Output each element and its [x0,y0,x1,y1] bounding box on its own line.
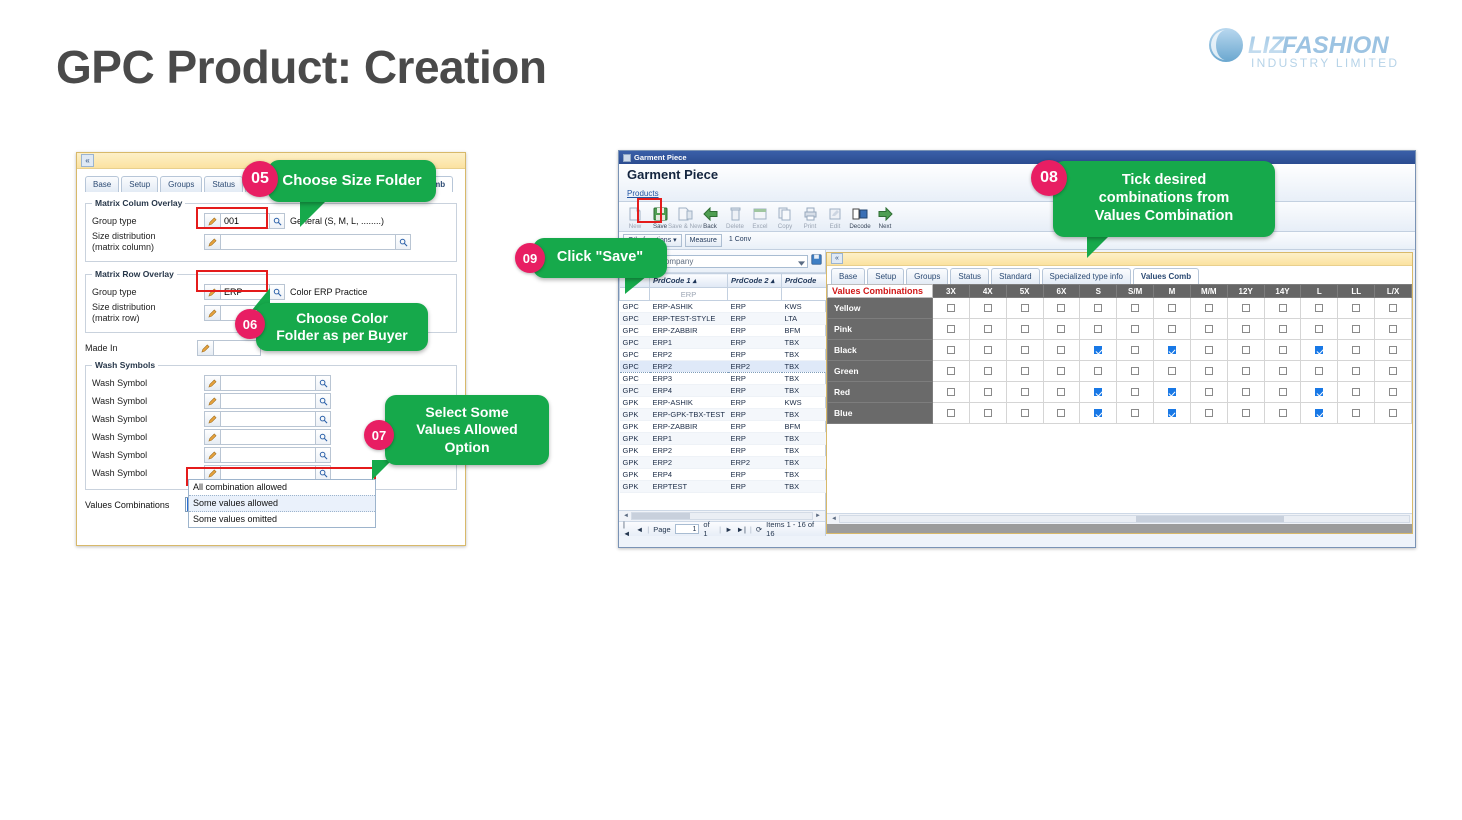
tab-specialized-type-info[interactable]: Specialized type info [1042,268,1131,284]
column-group-type-label: Group type [92,216,204,227]
grid-cell-yellow-s-m[interactable] [1117,298,1154,319]
tab-values-comb[interactable]: Values Comb [1133,268,1199,284]
grid-cell-yellow-3x[interactable] [933,298,970,319]
conv-button[interactable]: 1 Conv [725,234,755,247]
checkbox[interactable] [1315,304,1323,312]
grid-cell-red-5x[interactable] [1006,382,1043,403]
wash-symbol-input-wrap[interactable] [204,429,331,445]
callout-09-tail [625,276,647,294]
grid-cell-yellow-14y[interactable] [1264,298,1301,319]
grid-col-mm[interactable]: M/M [1190,285,1227,298]
checkbox[interactable] [1131,346,1139,354]
checkbox[interactable] [1094,304,1102,312]
grid-col-sm[interactable]: S/M [1117,285,1154,298]
column-size-distribution-input-wrap[interactable] [204,234,411,250]
column-size-distribution-value[interactable] [220,234,396,250]
grid-col-5x[interactable]: 5X [1006,285,1043,298]
grid-cell-pink-s-m[interactable] [1117,319,1154,340]
checkbox[interactable] [1168,367,1176,375]
grid-cell-green-3x[interactable] [933,361,970,382]
product-list-horizontal-scrollbar[interactable]: ◄ ► [619,510,825,521]
callout-05: Choose Size Folder [268,160,436,202]
checkbox[interactable] [984,304,992,312]
grid-cell-blue-s[interactable] [1080,403,1117,424]
checkbox[interactable] [1094,388,1102,396]
cell-prdcode3: TBX [782,457,827,469]
pencil-icon[interactable] [204,234,220,250]
grid-cell-black-m[interactable] [1154,340,1191,361]
cell-prdcode1: ERP-ZABBIR [650,421,728,433]
grid-cell-red-s-m[interactable] [1117,382,1154,403]
table-row-selected[interactable]: GPCERP2ERP2TBX [620,361,827,373]
callout-07-text: Select Some Values Allowed Option [404,398,529,461]
checkbox[interactable] [1352,304,1360,312]
dropdown-option-some-values-omitted[interactable]: Some values omitted [189,512,375,527]
grid-cell-red-6x[interactable] [1043,382,1080,403]
grid-col-3x[interactable]: 3X [933,285,970,298]
back-arrow-icon [703,206,718,222]
checkbox[interactable] [1389,346,1397,354]
toolbar-button-back[interactable]: Back [698,205,722,230]
checkbox[interactable] [1352,325,1360,333]
grid-col-14y[interactable]: 14Y [1264,285,1301,298]
search-icon[interactable] [316,447,331,463]
first-page-icon[interactable]: |◄ [623,520,632,538]
checkbox[interactable] [1352,409,1360,417]
grid-cell-yellow-m[interactable] [1154,298,1191,319]
pencil-icon[interactable] [204,429,220,445]
checkbox[interactable] [1205,409,1213,417]
checkbox[interactable] [1131,409,1139,417]
checkbox[interactable] [984,409,992,417]
toolbar-button-next[interactable]: Next [873,205,897,230]
grid-cell-blue-3x[interactable] [933,403,970,424]
cell-type: GPC [620,361,650,373]
checkbox[interactable] [947,304,955,312]
grid-cell-blue-l[interactable] [1301,403,1338,424]
checkbox[interactable] [984,388,992,396]
table-row[interactable]: GPKERP-ASHIKERPKWS [620,397,827,409]
measure-button[interactable]: Measure [685,234,722,247]
wash-symbol-value[interactable] [220,447,316,463]
grid-cell-pink-6x[interactable] [1043,319,1080,340]
table-row[interactable]: GPCERP1ERPTBX [620,337,827,349]
checkbox[interactable] [1094,346,1102,354]
grid-cell-green-14y[interactable] [1264,361,1301,382]
checkbox[interactable] [1021,388,1029,396]
checkbox[interactable] [1205,367,1213,375]
checkbox[interactable] [947,346,955,354]
grid-footer-band [827,524,1412,533]
grid-cell-green-s[interactable] [1080,361,1117,382]
grid-cell-green-5x[interactable] [1006,361,1043,382]
grid-body: YellowPinkBlackGreenRedBlue [828,298,1412,424]
table-row[interactable]: GPKERP2ERPTBX [620,445,827,457]
grid-horizontal-scrollbar[interactable]: ◄ [827,513,1412,524]
grid-cell-red-l-x[interactable] [1375,382,1412,403]
toolbar-button-decode[interactable]: Decode [848,205,872,230]
grid-cell-red-m[interactable] [1154,382,1191,403]
last-page-icon[interactable]: ►| [737,525,746,534]
grid-cell-green-4x[interactable] [969,361,1006,382]
grid-cell-blue-ll[interactable] [1338,403,1375,424]
callout-08-badge: 08 [1031,160,1067,196]
column-size-distribution-sublabel: (matrix column) [92,242,204,253]
checkbox[interactable] [984,325,992,333]
chevron-down-icon[interactable] [798,259,805,268]
pencil-icon[interactable] [204,305,220,321]
table-row[interactable]: GPCERP3ERPTBX [620,373,827,385]
checkbox[interactable] [1168,304,1176,312]
grid-cell-green-l[interactable] [1301,361,1338,382]
grid-cell-blue-14y[interactable] [1264,403,1301,424]
row-size-distribution-label: Size distribution (matrix row) [92,302,204,324]
toolbar-button-copy[interactable]: Copy [773,205,797,230]
grid-col-s[interactable]: S [1080,285,1117,298]
checkbox[interactable] [1279,409,1287,417]
tab-standard[interactable]: Standard [991,268,1039,284]
search-icon[interactable] [316,411,331,427]
grid-cell-blue-4x[interactable] [969,403,1006,424]
checkbox[interactable] [1205,346,1213,354]
grid-col-6x[interactable]: 6X [1043,285,1080,298]
checkbox[interactable] [984,367,992,375]
grid-col-l[interactable]: L [1301,285,1338,298]
grid-cell-black-12y[interactable] [1227,340,1264,361]
grid-cell-black-4x[interactable] [969,340,1006,361]
grid-cell-pink-4x[interactable] [969,319,1006,340]
checkbox[interactable] [1279,346,1287,354]
checkbox[interactable] [947,409,955,417]
scroll-right-icon[interactable]: ► [813,513,823,519]
grid-cell-yellow-l-x[interactable] [1375,298,1412,319]
page-number-input[interactable]: 1 [675,524,700,534]
refresh-icon[interactable]: ⟳ [756,525,762,534]
table-row[interactable]: GPCERP4ERPTBX [620,385,827,397]
wash-symbol-input-wrap[interactable] [204,447,331,463]
checkbox[interactable] [1021,304,1029,312]
checkbox[interactable] [1315,346,1323,354]
checkbox[interactable] [1242,304,1250,312]
grid-col-4x[interactable]: 4X [969,285,1006,298]
checkbox[interactable] [1094,325,1102,333]
collapse-icon[interactable]: « [831,253,843,264]
values-combinations-dropdown[interactable]: All combination allowed Some values allo… [188,479,376,528]
grid-cell-black-5x[interactable] [1006,340,1043,361]
checkbox[interactable] [1315,409,1323,417]
tab-status[interactable]: Status [204,176,243,192]
cell-prdcode2: ERP [728,433,782,445]
pencil-icon[interactable] [204,213,220,229]
grid-row-header-pink: Pink [828,319,933,340]
grid-cell-pink-l[interactable] [1301,319,1338,340]
tab-groups[interactable]: Groups [160,176,202,192]
checkbox[interactable] [1279,304,1287,312]
pencil-icon[interactable] [204,447,220,463]
breadcrumb[interactable]: Products [627,189,659,198]
excel-icon [753,206,767,222]
scroll-thumb[interactable] [632,513,690,519]
grid-cell-pink-3x[interactable] [933,319,970,340]
search-icon[interactable] [316,375,331,391]
prev-page-icon[interactable]: ◄ [636,525,643,534]
checkbox[interactable] [1057,409,1065,417]
filter-cell-prdcode1[interactable]: ERP [650,288,728,301]
grid-cell-pink-m-m[interactable] [1190,319,1227,340]
grid-cell-black-14y[interactable] [1264,340,1301,361]
grid-cell-black-6x[interactable] [1043,340,1080,361]
checkbox[interactable] [947,367,955,375]
grid-cell-blue-6x[interactable] [1043,403,1080,424]
grid-cell-red-s[interactable] [1080,382,1117,403]
checkbox[interactable] [1242,367,1250,375]
checkbox[interactable] [1352,367,1360,375]
grid-cell-pink-l-x[interactable] [1375,319,1412,340]
grid-col-ll[interactable]: LL [1338,285,1375,298]
collapse-icon[interactable]: « [81,154,94,167]
row-group-type-input-wrap[interactable]: ERP [204,284,285,300]
checkbox[interactable] [1389,304,1397,312]
grid-cell-yellow-4x[interactable] [969,298,1006,319]
grid-cell-black-3x[interactable] [933,340,970,361]
scroll-left-icon[interactable]: ◄ [829,516,839,522]
grid-cell-yellow-ll[interactable] [1338,298,1375,319]
search-icon[interactable] [396,234,411,250]
checkbox[interactable] [1131,367,1139,375]
checkbox[interactable] [1021,367,1029,375]
cell-prdcode1: ERP-ZABBIR [650,325,728,337]
checkbox[interactable] [1131,388,1139,396]
grid-cell-green-m[interactable] [1154,361,1191,382]
checkbox[interactable] [1389,409,1397,417]
cell-prdcode2: ERP2 [728,361,782,373]
checkbox[interactable] [1131,325,1139,333]
grid-cell-black-l-x[interactable] [1375,340,1412,361]
checkbox[interactable] [1094,409,1102,417]
grid-cell-green-l-x[interactable] [1375,361,1412,382]
checkbox[interactable] [947,388,955,396]
checkbox[interactable] [1242,325,1250,333]
checkbox[interactable] [1205,304,1213,312]
grid-cell-green-m-m[interactable] [1190,361,1227,382]
grid-cell-blue-12y[interactable] [1227,403,1264,424]
checkbox[interactable] [1315,388,1323,396]
checkbox[interactable] [1389,325,1397,333]
grid-cell-red-l[interactable] [1301,382,1338,403]
checkbox[interactable] [1279,388,1287,396]
search-icon[interactable] [270,213,285,229]
new-doc-icon [628,206,642,222]
grid-cell-yellow-6x[interactable] [1043,298,1080,319]
grid-cell-red-14y[interactable] [1264,382,1301,403]
checkbox[interactable] [1168,409,1176,417]
grid-cell-yellow-12y[interactable] [1227,298,1264,319]
grid-cell-blue-l-x[interactable] [1375,403,1412,424]
grid-col-m[interactable]: M [1154,285,1191,298]
table-row[interactable]: GPCERP-ASHIKERPKWS [620,301,827,313]
toolbar-button-save-and-new[interactable]: Save & New [673,205,697,230]
checkbox[interactable] [1315,367,1323,375]
grid-cell-green-12y[interactable] [1227,361,1264,382]
grid-cell-blue-s-m[interactable] [1117,403,1154,424]
callout-09: Click "Save" [533,238,667,278]
checkbox[interactable] [1057,325,1065,333]
checkbox[interactable] [1057,346,1065,354]
table-row[interactable]: GPKERP1ERPTBX [620,433,827,445]
checkbox[interactable] [1352,346,1360,354]
scroll-track[interactable] [839,515,1410,523]
table-row[interactable]: GPCERP-ZABBIRERPBFM [620,325,827,337]
search-icon[interactable] [316,429,331,445]
pencil-icon[interactable] [204,411,220,427]
tab-status[interactable]: Status [950,268,989,284]
checkbox[interactable] [1021,409,1029,417]
grid-cell-pink-14y[interactable] [1264,319,1301,340]
grid-cell-red-ll[interactable] [1338,382,1375,403]
search-icon[interactable] [270,284,285,300]
wash-symbol-input-wrap[interactable] [204,375,331,391]
checkbox[interactable] [1352,388,1360,396]
grid-cell-pink-5x[interactable] [1006,319,1043,340]
checkbox[interactable] [1168,346,1176,354]
wash-symbol-input-wrap[interactable] [204,393,331,409]
column-group-type-input-wrap[interactable]: 001 [204,213,285,229]
table-row[interactable]: GPCERP-TEST-STYLEERPLTA [620,313,827,325]
grid-cell-black-l[interactable] [1301,340,1338,361]
table-row[interactable]: GPCERP2ERPTBX [620,349,827,361]
grid-cell-blue-m[interactable] [1154,403,1191,424]
tab-base[interactable]: Base [831,268,865,284]
tab-setup[interactable]: Setup [121,176,158,192]
checkbox[interactable] [984,346,992,354]
tab-base[interactable]: Base [85,176,119,192]
next-page-icon[interactable]: ► [725,525,732,534]
pencil-icon[interactable] [204,284,220,300]
grid-cell-red-m-m[interactable] [1190,382,1227,403]
grid-cell-black-ll[interactable] [1338,340,1375,361]
save-view-icon[interactable] [811,252,822,270]
table-row[interactable]: GPKERP2ERP2TBX [620,457,827,469]
scroll-thumb[interactable] [1136,516,1284,522]
col-header-prdcode2[interactable]: PrdCode 2 ▴ [728,274,782,288]
made-in-input-wrap[interactable] [197,340,261,356]
column-group-type-value[interactable]: 001 [220,213,270,229]
grid-cell-pink-ll[interactable] [1338,319,1375,340]
made-in-value[interactable] [213,340,261,356]
wash-symbol-label: Wash Symbol [92,414,204,425]
grid-cell-green-ll[interactable] [1338,361,1375,382]
scroll-track[interactable] [631,512,813,520]
grid-cell-yellow-5x[interactable] [1006,298,1043,319]
checkbox[interactable] [1242,388,1250,396]
grid-cell-blue-m-m[interactable] [1190,403,1227,424]
tab-groups[interactable]: Groups [906,268,948,284]
checkbox[interactable] [1279,367,1287,375]
grid-cell-black-s[interactable] [1080,340,1117,361]
checkbox[interactable] [1057,388,1065,396]
checkbox[interactable] [1168,388,1176,396]
dropdown-option-some-values-allowed[interactable]: Some values allowed [189,495,375,512]
table-row[interactable]: GPKERPTESTERPTBX [620,481,827,493]
toolbar-button-new[interactable]: New [623,205,647,230]
checkbox[interactable] [1242,346,1250,354]
checkbox[interactable] [1315,325,1323,333]
callout-08: Tick desired combinations from Values Co… [1053,161,1275,237]
checkbox[interactable] [1279,325,1287,333]
cell-type: GPC [620,337,650,349]
toolbar-button-delete[interactable]: Delete [723,205,747,230]
checkbox[interactable] [1021,346,1029,354]
pencil-icon[interactable] [204,393,220,409]
checkbox[interactable] [1094,367,1102,375]
col-header-prdcode3[interactable]: PrdCode [782,274,827,288]
dropdown-option-all-combination-allowed[interactable]: All combination allowed [189,480,375,495]
grid-cell-red-4x[interactable] [969,382,1006,403]
grid-cell-yellow-m-m[interactable] [1190,298,1227,319]
scroll-left-icon[interactable]: ◄ [621,513,631,519]
table-filter-row: ERP [620,288,827,301]
view-select[interactable]: My Company [642,255,808,268]
toolbar-button-print[interactable]: Print [798,205,822,230]
checkbox[interactable] [1057,367,1065,375]
pagination-bar: |◄ ◄ | Page 1 of 1 | ► ►| | ⟳ Items 1 - … [619,521,825,536]
grid-cell-pink-s[interactable] [1080,319,1117,340]
cell-type: GPK [620,421,650,433]
filter-cell-prdcode3[interactable] [782,288,827,301]
checkbox[interactable] [1131,304,1139,312]
wash-symbol-value[interactable] [220,429,316,445]
checkbox[interactable] [1389,388,1397,396]
grid-col-12y[interactable]: 12Y [1227,285,1264,298]
row-group-type-label: Group type [92,287,204,298]
tab-setup[interactable]: Setup [867,268,904,284]
grid-cell-pink-m[interactable] [1154,319,1191,340]
grid-cell-pink-12y[interactable] [1227,319,1264,340]
checkbox[interactable] [1021,325,1029,333]
grid-cell-black-s-m[interactable] [1117,340,1154,361]
checkbox[interactable] [947,325,955,333]
toolbar-button-edit[interactable]: Edit [823,205,847,230]
pencil-icon[interactable] [204,375,220,391]
grid-cell-red-12y[interactable] [1227,382,1264,403]
grid-cell-green-s-m[interactable] [1117,361,1154,382]
grid-cell-yellow-l[interactable] [1301,298,1338,319]
grid-cell-blue-5x[interactable] [1006,403,1043,424]
grid-cell-green-6x[interactable] [1043,361,1080,382]
checkbox[interactable] [1057,304,1065,312]
pencil-icon[interactable] [197,340,213,356]
filter-cell-prdcode2[interactable] [728,288,782,301]
wash-symbol-value[interactable] [220,393,316,409]
wash-symbol-value[interactable] [220,375,316,391]
search-icon[interactable] [316,393,331,409]
toolbar-button-excel[interactable]: Excel [748,205,772,230]
checkbox[interactable] [1205,325,1213,333]
table-row[interactable]: GPKERP-GPK-TBX-TESTERPTBX [620,409,827,421]
grid-cell-black-m-m[interactable] [1190,340,1227,361]
wash-symbol-input-wrap[interactable] [204,411,331,427]
grid-col-lx[interactable]: L/X [1375,285,1412,298]
grid-cell-red-3x[interactable] [933,382,970,403]
wash-symbol-value[interactable] [220,411,316,427]
grid-cell-yellow-s[interactable] [1080,298,1117,319]
table-row[interactable]: GPKERP4ERPTBX [620,469,827,481]
checkbox[interactable] [1168,325,1176,333]
checkbox[interactable] [1389,367,1397,375]
checkbox[interactable] [1205,388,1213,396]
checkbox[interactable] [1242,409,1250,417]
table-row[interactable]: GPKERP-ZABBIRERPBFM [620,421,827,433]
